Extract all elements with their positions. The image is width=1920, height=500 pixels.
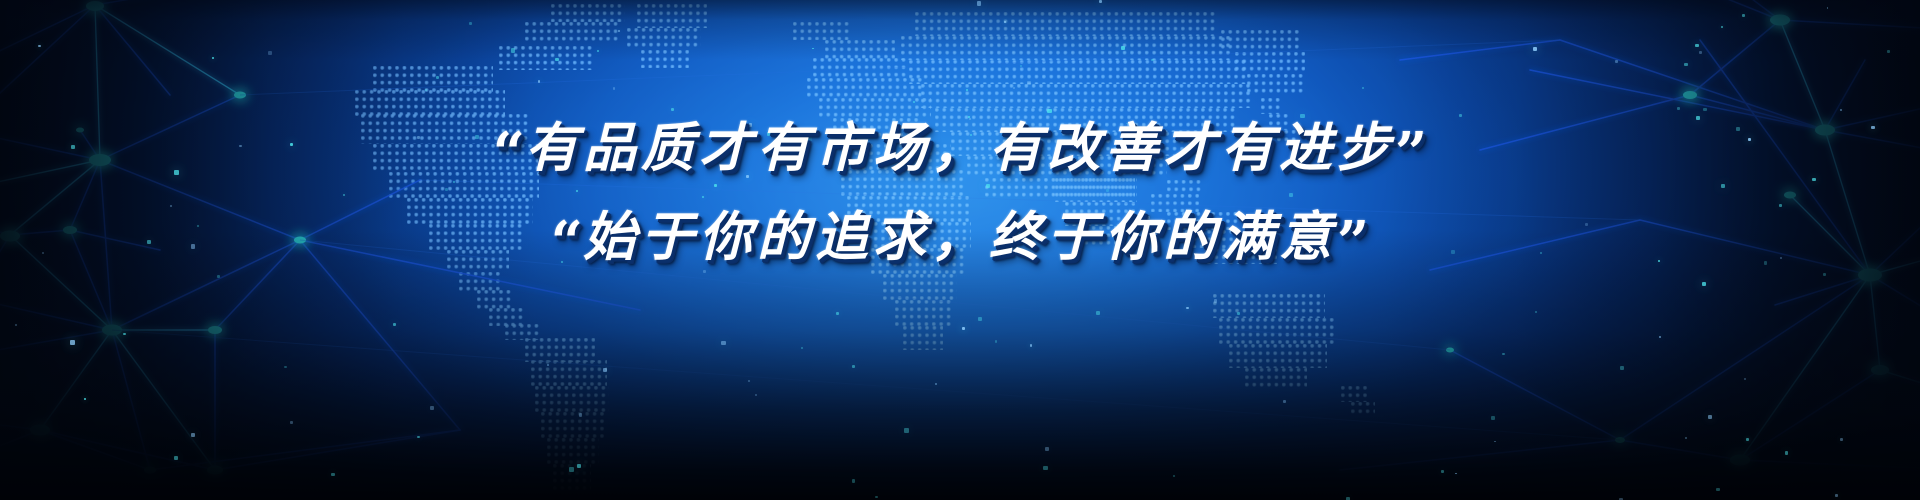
- sparkle-dot: [417, 136, 420, 139]
- sparkle-dot: [702, 196, 704, 198]
- sparkle-dot: [1779, 204, 1782, 207]
- sparkle-dot: [671, 108, 674, 111]
- sparkle-dot: [70, 340, 74, 344]
- sparkle-dot: [561, 261, 563, 263]
- sparkle-dot: [1696, 116, 1700, 120]
- sparkle-dot: [1827, 7, 1829, 9]
- sparkle-dot: [1459, 114, 1462, 117]
- sparkle-dot: [1702, 282, 1706, 286]
- sparkle-dot: [1043, 466, 1047, 470]
- sparkle-dot: [1742, 14, 1745, 17]
- sparkle-dot: [290, 421, 293, 424]
- sparkle-dot: [1835, 494, 1837, 496]
- sparkle-dot: [703, 270, 706, 273]
- sparkle-dot: [1785, 451, 1788, 454]
- sparkle-dot: [1289, 193, 1293, 197]
- sparkle-dot: [755, 394, 757, 396]
- sparkle-dot: [1695, 44, 1698, 47]
- sparkle-dot: [1708, 415, 1712, 419]
- sparkle-dot: [962, 327, 965, 330]
- sparkle-dot: [38, 45, 40, 47]
- sparkle-dot: [417, 436, 420, 439]
- sparkle-dot: [904, 210, 906, 212]
- sparkle-dot: [84, 398, 86, 400]
- sparkle-dot: [1121, 46, 1125, 50]
- sparkle-dot: [191, 433, 195, 437]
- sparkle-dot: [284, 366, 287, 369]
- sparkle-dot: [1317, 213, 1319, 215]
- sparkle-dot: [1659, 336, 1662, 339]
- sparkle-dot: [547, 364, 549, 366]
- sparkle-dot: [1491, 416, 1494, 419]
- sparkle-dot: [969, 118, 971, 120]
- sparkle-dot: [453, 181, 455, 183]
- sparkle-dot: [1362, 87, 1364, 89]
- sparkle-dot: [576, 190, 578, 192]
- sparkle-dot: [801, 347, 803, 349]
- sparkle-dot: [1151, 59, 1154, 62]
- sparkle-dot: [1147, 216, 1149, 218]
- sparkle-dot: [1173, 475, 1175, 477]
- sparkle-dot: [1126, 123, 1128, 125]
- sparkle-dot: [1677, 107, 1680, 110]
- sparkle-dot: [1451, 250, 1455, 254]
- sparkle-dot: [425, 89, 427, 91]
- sparkle-dot: [1502, 353, 1505, 356]
- sparkle-dot: [123, 333, 126, 336]
- sparkle-dot: [217, 275, 220, 278]
- sparkle-dot: [1494, 441, 1496, 443]
- sparkle-dot: [1045, 447, 1049, 451]
- hero-banner: “有品质才有市场，有改善才有进步” “始于你的追求，终于你的满意”: [0, 0, 1920, 500]
- sparkle-dot: [904, 428, 908, 432]
- sparkle-dot: [1812, 178, 1815, 181]
- sparkle-dot: [852, 479, 855, 482]
- sparkle-dot: [767, 132, 771, 136]
- sparkle-dot: [239, 145, 241, 147]
- sparkle-dot: [1283, 400, 1286, 403]
- sparkle-dot: [1324, 254, 1327, 257]
- sparkle-dot: [1703, 108, 1707, 112]
- sparkle-dot: [170, 205, 173, 208]
- sparkle-dot: [1533, 47, 1537, 51]
- sparkle-particles: [0, 0, 1920, 500]
- sparkle-dot: [935, 383, 938, 386]
- sparkle-dot: [1004, 21, 1006, 23]
- sparkle-dot: [1699, 51, 1702, 54]
- sparkle-dot: [1658, 260, 1661, 263]
- sparkle-dot: [1441, 470, 1444, 473]
- sparkle-dot: [968, 116, 970, 118]
- sparkle-dot: [42, 252, 44, 254]
- sparkle-dot: [174, 456, 178, 460]
- sparkle-dot: [1027, 81, 1031, 85]
- sparkle-dot: [749, 123, 753, 127]
- sparkle-dot: [1237, 312, 1240, 315]
- sparkle-dot: [748, 380, 750, 382]
- sparkle-dot: [1183, 135, 1187, 139]
- sparkle-dot: [579, 413, 582, 416]
- sparkle-dot: [1840, 438, 1842, 440]
- sparkle-dot: [1300, 114, 1304, 118]
- sparkle-dot: [343, 194, 345, 196]
- sparkle-dot: [603, 368, 607, 372]
- sparkle-dot: [469, 22, 472, 25]
- sparkle-dot: [1721, 184, 1725, 188]
- sparkle-dot: [1214, 299, 1217, 302]
- sparkle-dot: [1020, 65, 1022, 67]
- sparkle-dot: [1684, 63, 1687, 66]
- sparkle-dot: [1716, 488, 1720, 492]
- sparkle-dot: [538, 80, 541, 83]
- sparkle-dot: [852, 365, 855, 368]
- sparkle-dot: [511, 48, 515, 52]
- sparkle-dot: [1721, 26, 1723, 28]
- sparkle-dot: [1186, 307, 1188, 309]
- sparkle-dot: [577, 464, 581, 468]
- sparkle-dot: [1099, 0, 1102, 3]
- sparkle-dot: [174, 170, 178, 174]
- sparkle-dot: [1030, 344, 1032, 346]
- sparkle-dot: [15, 324, 17, 326]
- sparkle-dot: [268, 51, 272, 55]
- sparkle-dot: [977, 1, 981, 5]
- sparkle-dot: [714, 184, 717, 187]
- sparkle-dot: [71, 145, 74, 148]
- sparkle-dot: [1620, 366, 1623, 369]
- sparkle-dot: [1455, 473, 1457, 475]
- sparkle-dot: [1350, 152, 1353, 155]
- sparkle-dot: [913, 101, 915, 103]
- sparkle-dot: [445, 188, 448, 191]
- sparkle-dot: [1540, 252, 1543, 255]
- sparkle-dot: [555, 58, 558, 61]
- sparkle-dot: [1840, 109, 1842, 111]
- sparkle-dot: [1744, 378, 1746, 380]
- sparkle-dot: [197, 225, 199, 227]
- sparkle-dot: [808, 137, 812, 141]
- sparkle-dot: [331, 473, 334, 476]
- sparkle-dot: [430, 406, 434, 410]
- sparkle-dot: [1823, 273, 1826, 276]
- sparkle-dot: [1106, 189, 1109, 192]
- sparkle-dot: [613, 87, 615, 89]
- sparkle-dot: [1887, 50, 1890, 53]
- sparkle-dot: [436, 76, 439, 79]
- sparkle-dot: [836, 312, 839, 315]
- sparkle-dot: [1185, 244, 1189, 248]
- sparkle-dot: [970, 134, 972, 136]
- sparkle-dot: [147, 240, 150, 243]
- sparkle-dot: [290, 143, 294, 147]
- sparkle-dot: [191, 244, 195, 248]
- sparkle-dot: [1748, 138, 1751, 141]
- sparkle-dot: [1013, 87, 1015, 89]
- sparkle-dot: [812, 48, 814, 50]
- sparkle-dot: [986, 184, 990, 188]
- sparkle-dot: [1535, 311, 1537, 313]
- sparkle-dot: [618, 30, 620, 32]
- sparkle-dot: [1780, 257, 1782, 259]
- sparkle-dot: [1047, 109, 1051, 113]
- sparkle-dot: [1096, 311, 1100, 315]
- sparkle-dot: [393, 323, 396, 326]
- sparkle-dot: [978, 317, 982, 321]
- sparkle-dot: [995, 340, 998, 343]
- sparkle-dot: [1736, 127, 1740, 131]
- sparkle-dot: [966, 89, 968, 91]
- sparkle-dot: [597, 50, 599, 52]
- sparkle-dot: [875, 496, 878, 499]
- sparkle-dot: [569, 467, 573, 471]
- sparkle-dot: [721, 341, 725, 345]
- sparkle-dot: [1764, 261, 1768, 265]
- sparkle-dot: [1871, 126, 1874, 129]
- sparkle-dot: [1585, 223, 1588, 226]
- sparkle-dot: [475, 135, 479, 139]
- sparkle-dot: [746, 175, 749, 178]
- sparkle-dot: [1685, 437, 1687, 439]
- sparkle-dot: [1615, 60, 1618, 63]
- sparkle-dot: [1746, 438, 1748, 440]
- sparkle-dot: [212, 57, 214, 59]
